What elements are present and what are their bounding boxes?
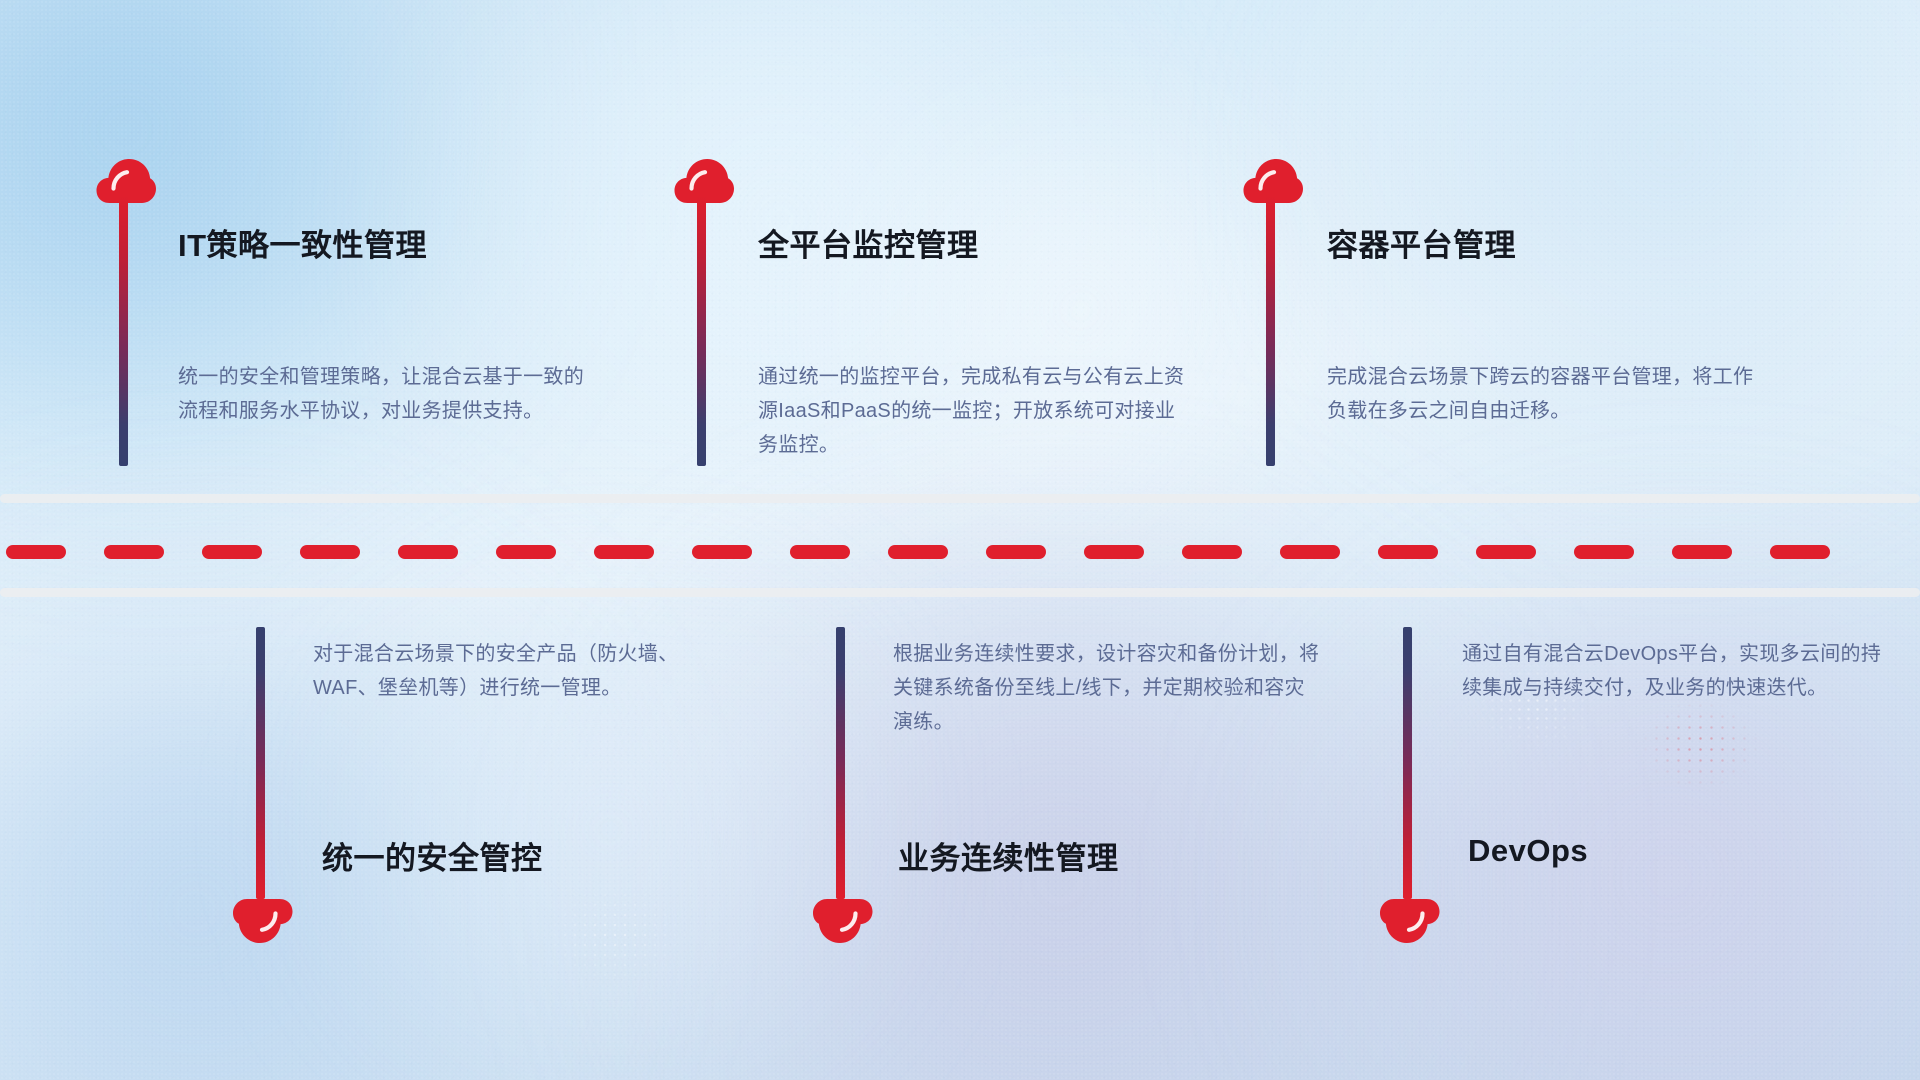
card-title: IT策略一致性管理 bbox=[178, 220, 427, 265]
road-dash bbox=[1672, 545, 1732, 559]
road-dash bbox=[1476, 545, 1536, 559]
road-dash bbox=[398, 545, 458, 559]
card-title: DevOps bbox=[1468, 833, 1588, 869]
road-dashes bbox=[0, 545, 1920, 559]
road-dash bbox=[888, 545, 948, 559]
road-dash bbox=[1574, 545, 1634, 559]
road-line-bottom bbox=[0, 588, 1920, 597]
stem-line bbox=[697, 196, 706, 466]
road-dash bbox=[594, 545, 654, 559]
road-dash bbox=[202, 545, 262, 559]
card-title: 容器平台管理 bbox=[1327, 220, 1516, 265]
road-dash bbox=[496, 545, 556, 559]
road-line-top bbox=[0, 494, 1920, 503]
stem-line bbox=[1266, 196, 1275, 466]
cloud-icon bbox=[813, 898, 873, 944]
sparkle-dots bbox=[540, 880, 690, 990]
stem-line bbox=[119, 196, 128, 466]
cloud-icon bbox=[233, 898, 293, 944]
road-dash bbox=[790, 545, 850, 559]
card-title: 统一的安全管控 bbox=[322, 833, 543, 878]
card-body: 通过自有混合云DevOps平台，实现多云间的持续集成与持续交付，及业务的快速迭代… bbox=[1462, 637, 1892, 705]
cloud-icon bbox=[1380, 898, 1440, 944]
card-title: 全平台监控管理 bbox=[758, 220, 979, 265]
road-dash bbox=[104, 545, 164, 559]
road-dash bbox=[1378, 545, 1438, 559]
sparkle-dots-red bbox=[1640, 700, 1760, 790]
road-dash bbox=[692, 545, 752, 559]
road-dash bbox=[986, 545, 1046, 559]
road-dash bbox=[1280, 545, 1340, 559]
card-body: 完成混合云场景下跨云的容器平台管理，将工作负载在多云之间自由迁移。 bbox=[1327, 360, 1757, 428]
card-body: 根据业务连续性要求，设计容灾和备份计划，将关键系统备份至线上/线下，并定期校验和… bbox=[893, 637, 1323, 739]
road-dash bbox=[300, 545, 360, 559]
stem-line bbox=[1403, 627, 1412, 899]
card-body: 通过统一的监控平台，完成私有云与公有云上资源IaaS和PaaS的统一监控；开放系… bbox=[758, 360, 1188, 462]
road-dash bbox=[6, 545, 66, 559]
stem-line bbox=[836, 627, 845, 899]
card-body: 对于混合云场景下的安全产品（防火墙、WAF、堡垒机等）进行统一管理。 bbox=[313, 637, 743, 705]
card-title: 业务连续性管理 bbox=[898, 833, 1119, 878]
road-dash bbox=[1770, 545, 1830, 559]
road-dash bbox=[1182, 545, 1242, 559]
card-body: 统一的安全和管理策略，让混合云基于一致的流程和服务水平协议，对业务提供支持。 bbox=[178, 360, 603, 428]
road-dash bbox=[1084, 545, 1144, 559]
stem-line bbox=[256, 627, 265, 899]
